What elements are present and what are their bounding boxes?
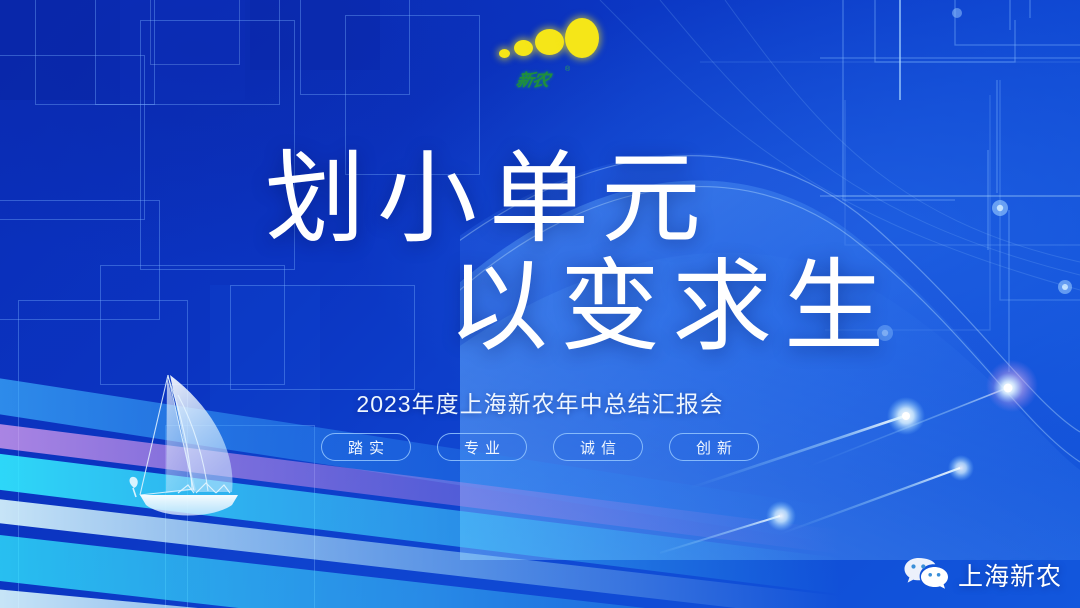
wechat-account-badge: 上海新农 xyxy=(903,556,1062,594)
wechat-account-name: 上海新农 xyxy=(958,557,1062,593)
logo-dot-3 xyxy=(535,29,564,55)
logo-dot-2 xyxy=(514,40,533,56)
value-tag-1: 踏实 xyxy=(321,433,411,461)
value-tag-3: 诚信 xyxy=(553,433,643,461)
logo-dot-1 xyxy=(499,49,510,58)
event-subtitle: 2023年度上海新农年中总结汇报会 xyxy=(0,385,1080,419)
xinnong-logo: 新农 ® xyxy=(497,18,597,96)
headline-line-1: 划小单元 xyxy=(265,150,713,250)
logo-registered-mark: ® xyxy=(565,66,570,73)
wechat-icon xyxy=(903,556,949,594)
logo-dot-4 xyxy=(565,18,599,58)
value-tags-row: 踏实 专业 诚信 创新 xyxy=(0,433,1080,461)
logo-wordmark: 新农 xyxy=(514,66,551,91)
value-tag-4: 创新 xyxy=(669,433,759,461)
poster-canvas: 新农 ® 划小单元 以变求生 2023年度上海新农年中总结汇报会 踏实 专业 诚… xyxy=(0,0,1080,608)
headline-line-2: 以变求生 xyxy=(448,258,896,358)
value-tag-2: 专业 xyxy=(437,433,527,461)
